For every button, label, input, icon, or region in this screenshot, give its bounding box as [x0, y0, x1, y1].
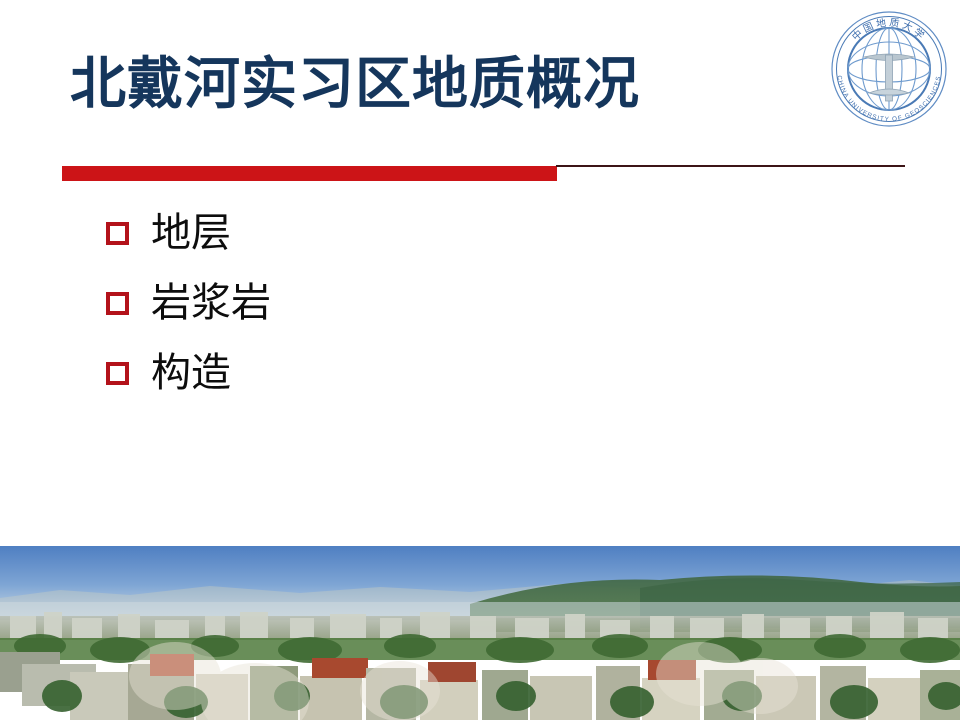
- page-title: 北戴河实习区地质概况: [70, 52, 640, 116]
- list-item-label: 地层: [151, 211, 231, 255]
- list-item-label: 构造: [151, 351, 231, 395]
- divider-thick-bar: [62, 166, 557, 181]
- china-university-of-geosciences-logo: 中国地质大学 CHINA UNIVERSITY OF GEOSCIENCES: [828, 8, 950, 130]
- city-panorama-photo: [0, 546, 960, 720]
- divider-thin-line: [556, 165, 905, 167]
- title-divider: [62, 164, 905, 182]
- square-bullet-icon: [106, 362, 129, 385]
- bullet-list: 地层 岩浆岩 构造: [106, 198, 806, 408]
- square-bullet-icon: [106, 222, 129, 245]
- square-bullet-icon: [106, 292, 129, 315]
- list-item-label: 岩浆岩: [151, 281, 271, 325]
- list-item[interactable]: 地层: [106, 198, 806, 268]
- list-item[interactable]: 构造: [106, 338, 806, 408]
- list-item[interactable]: 岩浆岩: [106, 268, 806, 338]
- slide: 中国地质大学 CHINA UNIVERSITY OF GEOSCIENCES 北…: [0, 0, 960, 720]
